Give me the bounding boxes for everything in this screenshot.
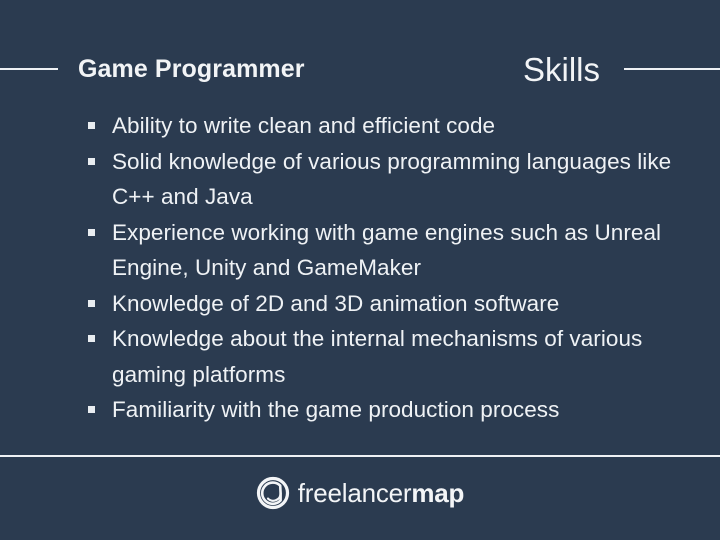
square-bullet-icon [88,229,95,236]
page-title-role: Game Programmer [78,55,305,84]
list-item: Knowledge of 2D and 3D animation softwar… [88,286,692,322]
list-item-label: Solid knowledge of various programming l… [112,144,692,215]
list-item-label: Knowledge of 2D and 3D animation softwar… [112,286,692,322]
square-bullet-icon [88,300,95,307]
square-bullet-icon [88,406,95,413]
brand-logo-text-light: freelancer [298,478,412,508]
list-item: Solid knowledge of various programming l… [88,144,692,215]
list-item: Knowledge about the internal mechanisms … [88,321,692,392]
list-item: Familiarity with the game production pro… [88,392,692,428]
list-item-label: Ability to write clean and efficient cod… [112,108,692,144]
skills-list: Ability to write clean and efficient cod… [88,108,692,428]
list-item: Ability to write clean and efficient cod… [88,108,692,144]
footer-divider [0,455,720,457]
slide-root: Game Programmer Skills Ability to write … [0,0,720,540]
slide-header: Game Programmer Skills [0,48,720,90]
brand-logo-text: freelancermap [298,480,465,506]
header-rule-right [624,68,720,70]
header-rule-left [0,68,58,70]
brand-logo: freelancermap [0,476,720,510]
list-item-label: Familiarity with the game production pro… [112,392,692,428]
list-item-label: Knowledge about the internal mechanisms … [112,321,692,392]
page-title-topic: Skills [523,53,600,86]
brand-logo-text-bold: map [411,478,464,508]
square-bullet-icon [88,335,95,342]
square-bullet-icon [88,158,95,165]
list-item: Experience working with game engines suc… [88,215,692,286]
list-item-label: Experience working with game engines suc… [112,215,692,286]
freelancermap-swirl-icon [256,476,290,510]
square-bullet-icon [88,122,95,129]
